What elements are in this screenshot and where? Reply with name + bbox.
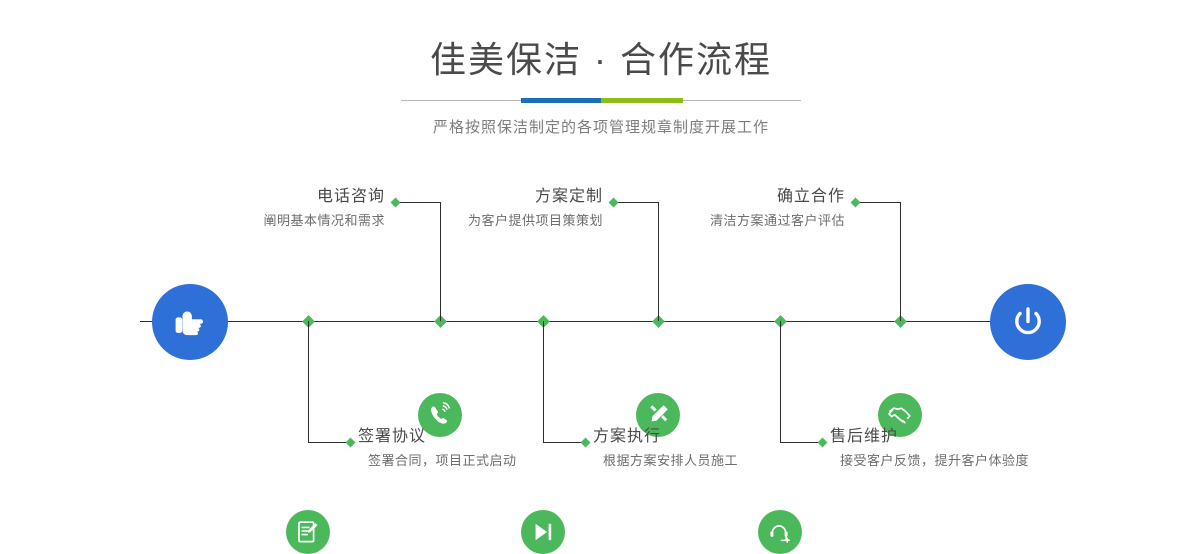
connector-stem-2 <box>308 321 309 442</box>
step-title-5: 确立合作 <box>560 187 845 207</box>
handshake-icon <box>887 402 913 428</box>
page-title: 佳美保洁 · 合作流程 <box>0 0 1202 82</box>
step-node-4[interactable] <box>521 510 565 554</box>
connector-arm-6 <box>780 442 822 443</box>
step-label-6: 售后维护 接受客户反馈，提升客户体验度 <box>830 427 1130 470</box>
process-flow-diagram: 电话咨询 阐明基本情况和需求 签署协议 签署合同，项目正式启动 <box>0 155 1202 502</box>
pen-design-icon <box>645 402 671 428</box>
step-node-6[interactable] <box>758 510 802 554</box>
connector-arm-4 <box>543 442 585 443</box>
connector-stem-5 <box>900 202 901 321</box>
document-edit-icon <box>295 519 321 545</box>
title-divider <box>401 98 801 104</box>
phone-call-icon <box>427 402 453 428</box>
step-desc-5: 清洁方案通过客户评估 <box>560 207 845 230</box>
connector-arm-5 <box>856 202 901 203</box>
customer-service-add-icon <box>767 519 793 545</box>
connector-tip-2 <box>346 438 356 448</box>
divider-segment-green <box>601 98 683 103</box>
page-subtitle: 严格按照保洁制定的各项管理规章制度开展工作 <box>0 104 1202 137</box>
connector-stem-6 <box>780 321 781 442</box>
page-header: 佳美保洁 · 合作流程 严格按照保洁制定的各项管理规章制度开展工作 <box>0 0 1202 137</box>
step-node-2[interactable] <box>286 510 330 554</box>
timeline-axis <box>140 321 1065 322</box>
flow-end-node[interactable] <box>990 284 1066 360</box>
step-label-5: 确立合作 清洁方案通过客户评估 <box>560 187 845 230</box>
connector-arm-2 <box>308 442 350 443</box>
connector-stem-4 <box>543 321 544 442</box>
flow-start-node[interactable] <box>152 284 228 360</box>
pointing-hand-icon <box>169 301 211 343</box>
divider-segment-blue <box>521 98 601 103</box>
step-desc-6: 接受客户反馈，提升客户体验度 <box>830 447 1130 470</box>
play-execute-icon <box>530 519 556 545</box>
connector-tip-5 <box>851 198 861 208</box>
power-icon <box>1008 302 1048 342</box>
step-title-6: 售后维护 <box>830 427 1130 447</box>
